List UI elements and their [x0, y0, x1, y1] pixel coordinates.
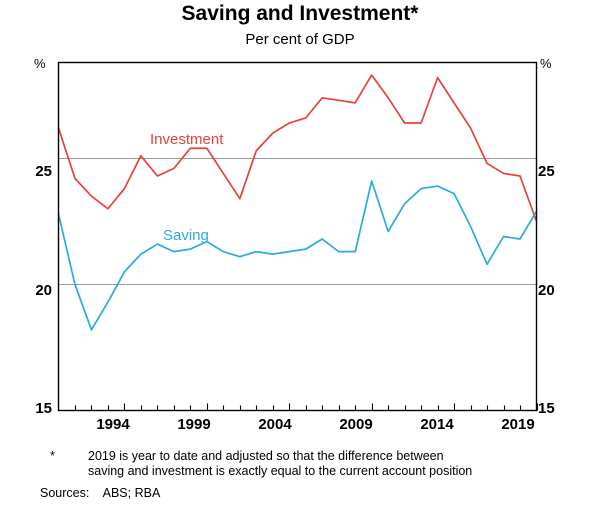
footnote-text-2: saving and investment is exactly equal t…	[88, 464, 580, 479]
series-line-investment	[59, 75, 537, 221]
footnote: * 2019 is year to date and adjusted so t…	[40, 449, 580, 479]
footnote-line-2: saving and investment is exactly equal t…	[40, 464, 580, 479]
sources-line: Sources: ABS; RBA	[40, 486, 160, 500]
plot-area	[0, 0, 600, 505]
plot-frame	[59, 63, 537, 411]
series-lines	[59, 75, 537, 330]
footnote-text-1: 2019 is year to date and adjusted so tha…	[88, 449, 580, 464]
series-line-saving	[59, 181, 537, 330]
sources-label: Sources:	[40, 486, 89, 500]
chart-container: Saving and Investment* Per cent of GDP %…	[0, 0, 600, 505]
footnote-line-1: * 2019 is year to date and adjusted so t…	[40, 449, 580, 464]
sources-value: ABS; RBA	[103, 486, 161, 500]
footnote-marker: *	[50, 449, 55, 464]
